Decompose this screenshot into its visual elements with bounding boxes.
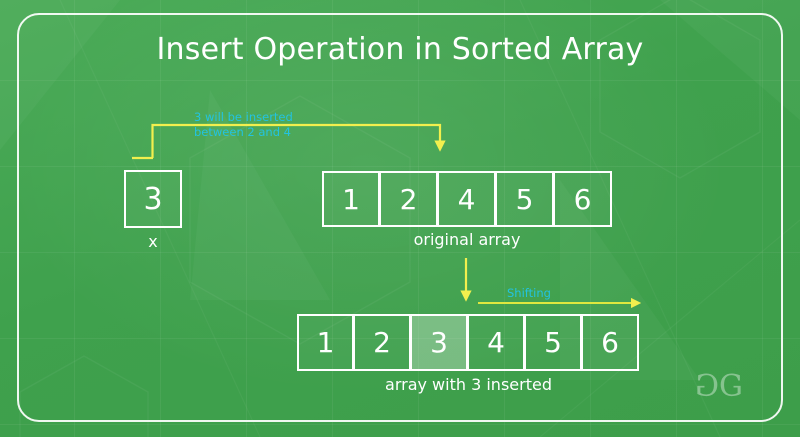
insert-element-box: 3 <box>124 170 182 228</box>
array-cell: 3 <box>411 314 468 371</box>
result-array-row: 123456 <box>297 314 639 371</box>
logo-glyph-left: G <box>697 372 719 402</box>
original-array-caption: original array <box>322 230 612 249</box>
array-cell: 5 <box>525 314 582 371</box>
array-cell: 4 <box>438 171 496 227</box>
array-cell: 3 <box>124 170 182 228</box>
insert-element-caption: x <box>124 232 182 251</box>
array-cell: 1 <box>322 171 380 227</box>
array-cell: 2 <box>354 314 411 371</box>
insert-annotation: 3 will be inserted between 2 and 4 <box>194 110 293 140</box>
insert-annotation-line2: between 2 and 4 <box>194 125 293 140</box>
shifting-label: Shifting <box>507 286 551 301</box>
array-cell: 6 <box>554 171 612 227</box>
array-cell: 2 <box>380 171 438 227</box>
array-cell: 5 <box>496 171 554 227</box>
result-array-caption: array with 3 inserted <box>297 375 640 394</box>
logo-glyph-right: G <box>719 369 741 404</box>
array-cell: 4 <box>468 314 525 371</box>
figure-title: Insert Operation in Sorted Array <box>0 32 800 67</box>
figure-canvas: Insert Operation in Sorted Array 3 will … <box>0 0 800 437</box>
array-cell: 6 <box>582 314 639 371</box>
original-array-row: 12456 <box>322 171 612 227</box>
geeksforgeeks-logo: GG <box>697 372 741 402</box>
array-cell: 1 <box>297 314 354 371</box>
insert-annotation-line1: 3 will be inserted <box>194 110 293 125</box>
